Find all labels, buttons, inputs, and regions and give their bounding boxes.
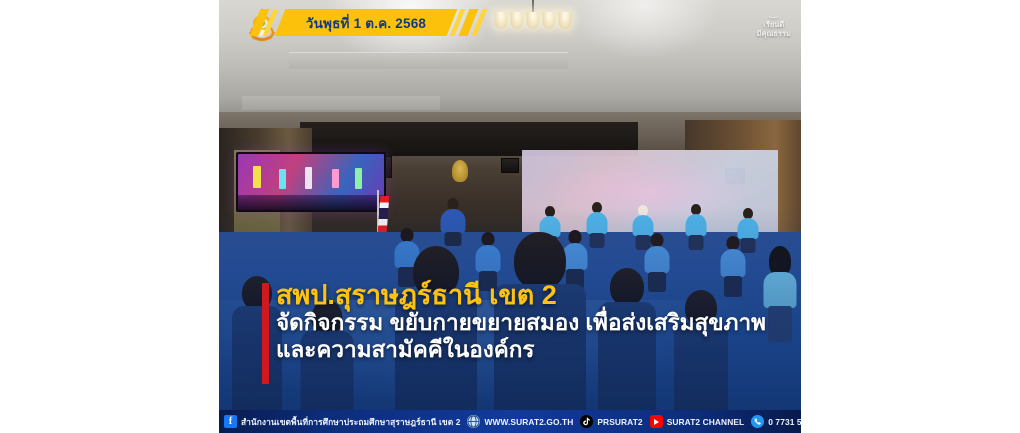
date-text: วันพุธที่ 1 ต.ค. 2568 [306,12,426,34]
date-banner: วันพุธที่ 1 ต.ค. 2568 [255,9,486,36]
footer-item-tiktok[interactable]: PRSURAT2 [580,415,642,428]
phone-icon [751,415,764,428]
tiktok-icon [580,415,593,428]
headline-block: สพป.สุราษฎร์ธานี เขต 2 จัดกิจกรรม ขยับกา… [276,280,796,363]
date-plate: วันพุธที่ 1 ต.ค. 2568 [275,9,458,36]
person-leader [440,198,466,244]
footer-item-website[interactable]: WWW.SURAT2.GO.TH [467,415,573,428]
youtube-icon [650,415,663,428]
footer-label-website: WWW.SURAT2.GO.TH [484,417,573,427]
person-stage-2 [586,202,608,248]
chandelier-bulb [511,12,524,29]
footer-label-phone: 0 7731 5060 [768,417,801,427]
poster-canvas: ‿ เรียนดี มีคุณธรรม วันพุธที่ 1 ต.ค. 256… [0,0,1020,433]
red-accent-bar [262,283,269,384]
headline-organization: สพป.สุราษฎร์ธานี เขต 2 [276,280,796,310]
watermark-line-1: เรียนดี [763,20,784,29]
headline-activity-line-2: และความสามัคคีในองค์กร [276,337,796,364]
footer-label-youtube: SURAT2 CHANNEL [667,417,745,427]
chandelier-bulb [543,12,556,29]
chandelier-bulb [527,12,540,29]
footer-contact-bar: f สำนักงานเขตพื้นที่การศึกษาประถมศึกษาสุ… [219,410,801,433]
chandelier-bulbs [495,12,572,29]
footer-item-youtube[interactable]: SURAT2 CHANNEL [650,415,745,428]
campaign-watermark: ‿ เรียนดี มีคุณธรรม [757,8,792,39]
led-screen [236,152,386,212]
wall-emblem [452,160,468,182]
facebook-icon: f [224,415,237,428]
speaker-center [501,158,519,173]
chandelier-bulb [495,12,508,29]
footer-item-facebook[interactable]: f สำนักงานเขตพื้นที่การศึกษาประถมศึกษาสุ… [224,415,460,429]
ceiling-panel [289,52,568,69]
ceiling-light-glow-2 [568,0,719,60]
watermark-line-2: มีคุณธรรม [757,29,792,38]
footer-label-facebook: สำนักงานเขตพื้นที่การศึกษาประถมศึกษาสุรา… [241,415,460,429]
ceiling-panel-secondary [242,96,440,110]
website-globe-icon [467,415,480,428]
event-photo: ‿ เรียนดี มีคุณธรรม วันพุธที่ 1 ต.ค. 256… [219,0,801,433]
footer-item-phone[interactable]: 0 7731 5060 [751,415,801,428]
smile-icon: ‿ [757,8,792,19]
person-stage-4 [685,204,707,250]
headline-activity-line-1: จัดกิจกรรม ขยับกายขยายสมอง เพื่อส่งเสริม… [276,310,796,337]
chandelier-bulb [559,12,572,29]
footer-label-tiktok: PRSURAT2 [597,417,642,427]
